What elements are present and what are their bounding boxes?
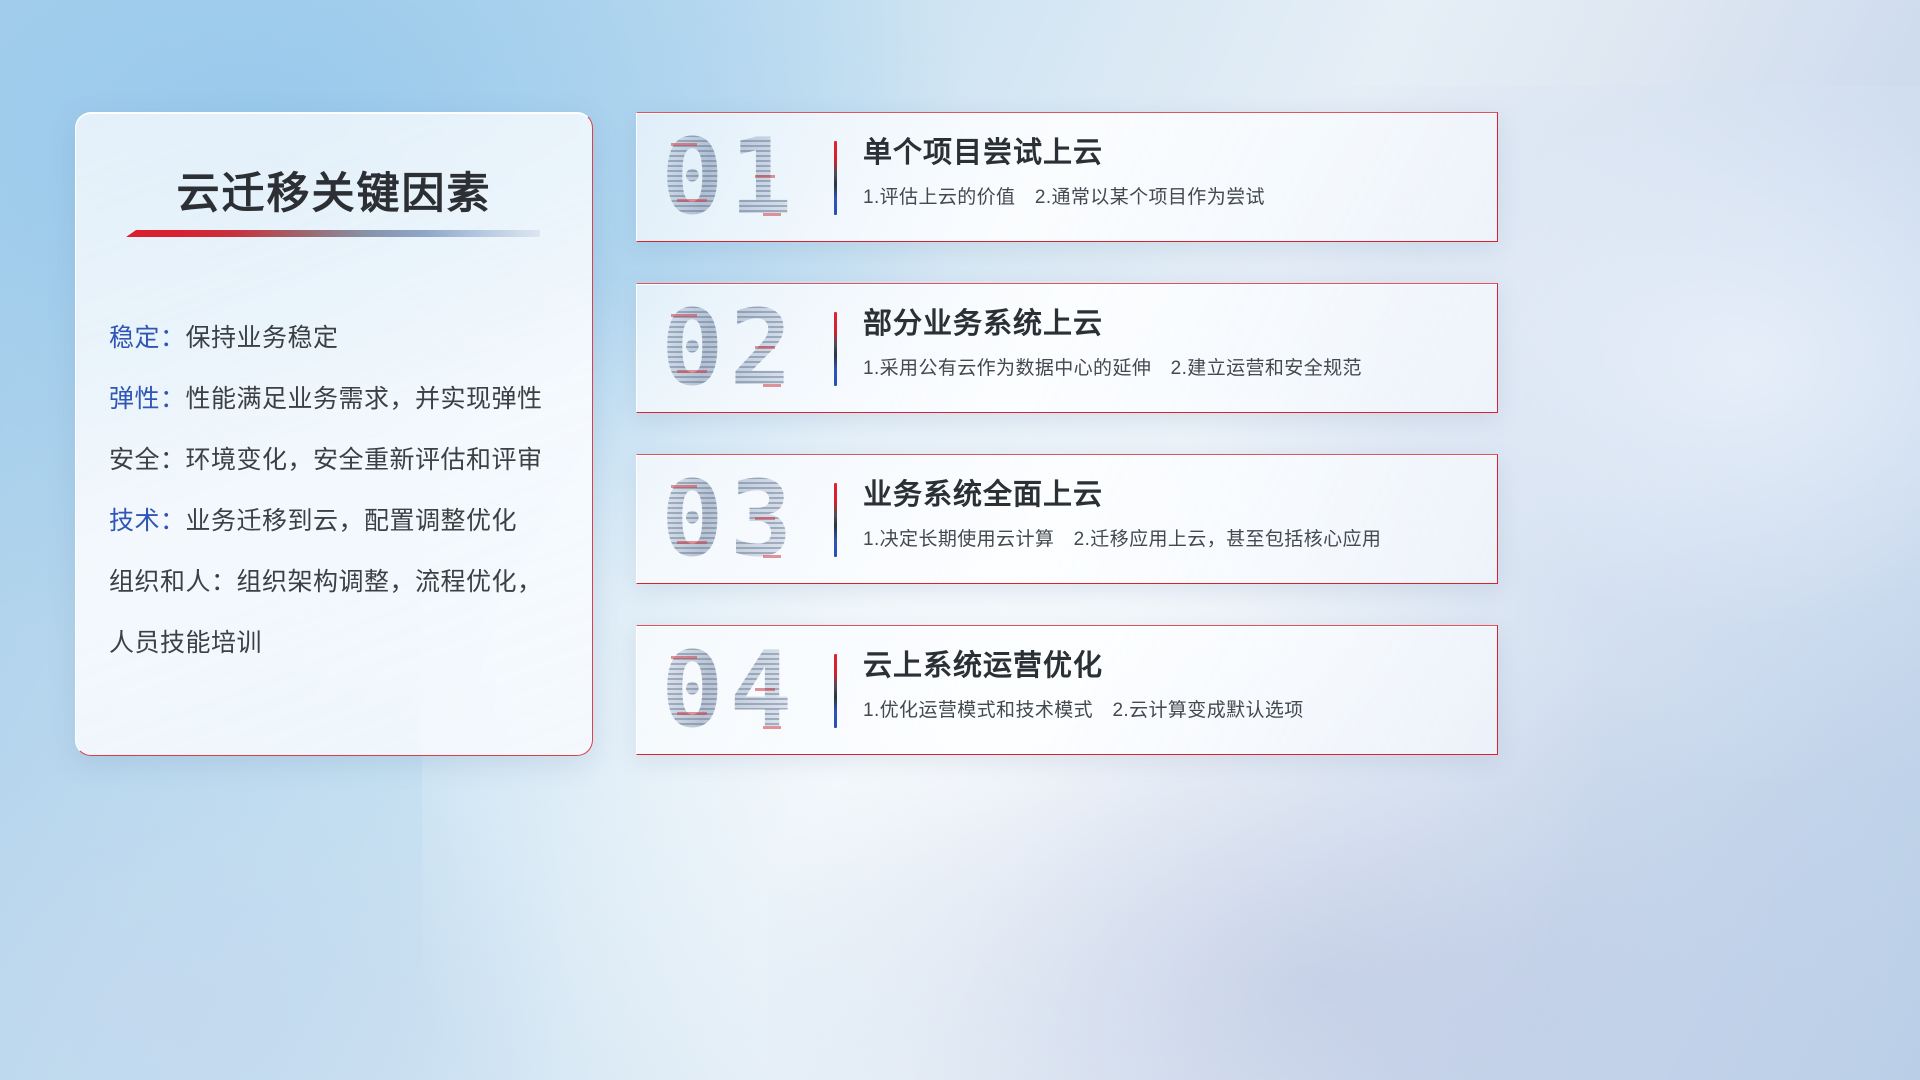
step-card[interactable]: 03业务系统全面上云1.决定长期使用云计算 2.迁移应用上云，甚至包括核心应用 xyxy=(636,454,1498,584)
factor-text: 人员技能培训 xyxy=(109,629,262,657)
accent-bar xyxy=(834,654,837,728)
factor-text: 业务迁移到云，配置调整优化 xyxy=(186,507,518,535)
step-card[interactable]: 01单个项目尝试上云1.评估上云的价值 2.通常以某个项目作为尝试 xyxy=(636,112,1498,242)
step-card-body: 云上系统运营优化1.优化运营模式和技术模式 2.云计算变成默认选项 xyxy=(863,648,1473,722)
factor-label: 技术： xyxy=(109,507,186,535)
step-card[interactable]: 02部分业务系统上云1.采用公有云作为数据中心的延伸 2.建立运营和安全规范 xyxy=(636,283,1498,413)
factor-row: 人员技能培训 xyxy=(109,613,564,674)
step-description: 1.优化运营模式和技术模式 2.云计算变成默认选项 xyxy=(863,695,1473,722)
factor-row: 弹性：性能满足业务需求，并实现弹性 xyxy=(109,369,564,430)
factor-row: 组织和人：组织架构调整，流程优化， xyxy=(109,552,564,613)
step-title: 单个项目尝试上云 xyxy=(863,135,1473,171)
step-card[interactable]: 04云上系统运营优化1.优化运营模式和技术模式 2.云计算变成默认选项 xyxy=(636,625,1498,755)
factor-label: 安全： xyxy=(109,446,186,474)
slide-stage: 云迁移关键因素 稳定：保持业务稳定弹性：性能满足业务需求，并实现弹性安全：环境变… xyxy=(0,0,1920,1080)
step-number-watermark: 01 xyxy=(661,125,798,229)
factor-row: 稳定：保持业务稳定 xyxy=(109,308,564,369)
factor-row: 安全：环境变化，安全重新评估和评审 xyxy=(109,430,564,491)
step-card-body: 业务系统全面上云1.决定长期使用云计算 2.迁移应用上云，甚至包括核心应用 xyxy=(863,477,1473,551)
title-underline-gradient xyxy=(126,230,540,237)
migration-steps-list: 01单个项目尝试上云1.评估上云的价值 2.通常以某个项目作为尝试02部分业务系… xyxy=(636,112,1498,755)
step-number-watermark: 04 xyxy=(661,638,798,742)
accent-bar xyxy=(834,141,837,215)
factor-row: 技术：业务迁移到云，配置调整优化 xyxy=(109,491,564,552)
factor-text: 组织架构调整，流程优化， xyxy=(237,568,543,596)
step-description: 1.评估上云的价值 2.通常以某个项目作为尝试 xyxy=(863,182,1473,209)
step-card-body: 部分业务系统上云1.采用公有云作为数据中心的延伸 2.建立运营和安全规范 xyxy=(863,306,1473,380)
factor-label: 稳定： xyxy=(109,324,186,352)
key-factors-panel: 云迁移关键因素 稳定：保持业务稳定弹性：性能满足业务需求，并实现弹性安全：环境变… xyxy=(75,112,593,756)
factor-list: 稳定：保持业务稳定弹性：性能满足业务需求，并实现弹性安全：环境变化，安全重新评估… xyxy=(109,308,564,674)
step-description: 1.采用公有云作为数据中心的延伸 2.建立运营和安全规范 xyxy=(863,353,1473,380)
step-number-watermark: 02 xyxy=(661,296,798,400)
step-title: 部分业务系统上云 xyxy=(863,306,1473,342)
step-number-watermark: 03 xyxy=(661,467,798,571)
step-description: 1.决定长期使用云计算 2.迁移应用上云，甚至包括核心应用 xyxy=(863,524,1473,551)
factor-label: 组织和人： xyxy=(109,568,237,596)
step-title: 业务系统全面上云 xyxy=(863,477,1473,513)
factor-label: 弹性： xyxy=(109,385,186,413)
factor-text: 环境变化，安全重新评估和评审 xyxy=(186,446,543,474)
factor-text: 保持业务稳定 xyxy=(186,324,339,352)
page-title: 云迁移关键因素 xyxy=(76,159,592,221)
factor-text: 性能满足业务需求，并实现弹性 xyxy=(186,385,543,413)
step-card-body: 单个项目尝试上云1.评估上云的价值 2.通常以某个项目作为尝试 xyxy=(863,135,1473,209)
accent-bar xyxy=(834,312,837,386)
step-title: 云上系统运营优化 xyxy=(863,648,1473,684)
accent-bar xyxy=(834,483,837,557)
